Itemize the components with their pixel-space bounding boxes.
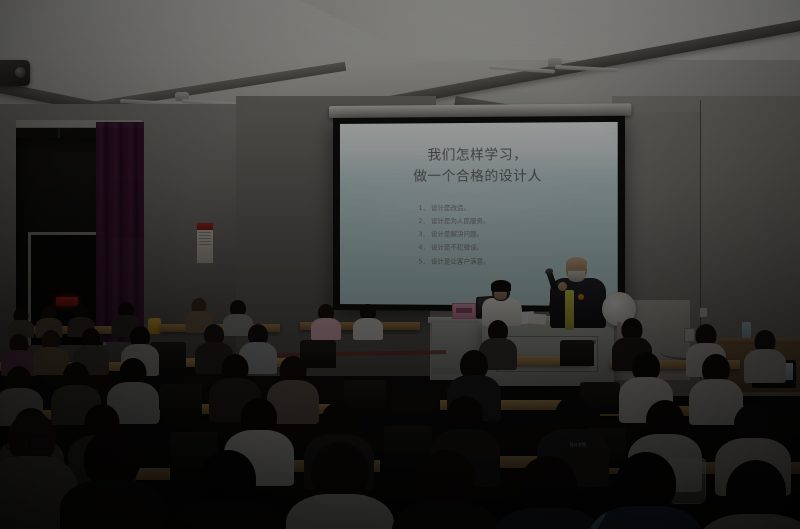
person-body — [744, 349, 786, 383]
audience-member-foreground — [180, 450, 276, 529]
shirt-print-text: 设计学院 — [558, 442, 598, 447]
person-body — [700, 514, 800, 529]
person-head — [519, 456, 577, 516]
audience-member-foreground — [396, 450, 496, 529]
person-body — [353, 318, 383, 340]
projector-lens — [15, 67, 26, 78]
slide-bullet-item: 5． 设计是让客户满意。 — [418, 255, 489, 269]
person-head — [616, 452, 676, 514]
notice-line — [199, 241, 211, 242]
person-body — [494, 508, 602, 529]
eyeglasses-icon — [6, 436, 30, 449]
seat-back — [560, 340, 594, 366]
person-body — [311, 318, 341, 340]
speaker-beard — [568, 271, 585, 282]
audience-member-foreground — [498, 456, 598, 529]
audience-member — [746, 330, 784, 378]
notice-line — [199, 244, 211, 245]
slide-bullet-list: 1． 设计是改造。 2． 设计是为人民服务。 3． 设计是解决问题。 4． 设计… — [418, 202, 489, 268]
audience-member-foreground — [594, 452, 698, 529]
person-body — [392, 502, 500, 529]
person-head — [726, 460, 786, 522]
slide-bullet-item: 2． 设计是为人民服务。 — [418, 215, 489, 228]
microphone-head — [544, 267, 553, 275]
audience-member — [312, 304, 340, 334]
person-body — [590, 506, 702, 529]
slide-bullet-item: 4． 设计是不犯错误。 — [418, 242, 489, 255]
slide-bullet-item: 3． 设计是解决问题。 — [418, 228, 489, 241]
slide-title-line-1: 我们怎样学习， — [340, 144, 618, 166]
notice-line — [199, 238, 211, 239]
audience-member-foreground — [704, 460, 800, 529]
notice-header — [197, 223, 213, 230]
lecture-hall-photo: 我们怎样学习， 做一个合格的设计人 1． 设计是改造。 2． 设计是为人民服务。… — [0, 0, 800, 529]
slide-bullet-item: 1． 设计是改造。 — [418, 202, 489, 215]
notice-line — [199, 235, 211, 236]
person-body — [286, 494, 394, 529]
person-head — [311, 442, 369, 502]
person-body — [60, 480, 164, 529]
projector-icon — [0, 60, 30, 86]
audience-member-foreground — [64, 430, 160, 529]
notice-line — [199, 232, 211, 233]
audience-member — [8, 308, 34, 334]
wall-notice-board — [196, 222, 214, 264]
speaker-bald-head — [566, 257, 587, 269]
audience-area: 设计学院 — [0, 300, 800, 529]
person-head — [417, 450, 475, 510]
audience-member — [354, 304, 382, 334]
slide-title-line-2: 做一个合格的设计人 — [340, 166, 618, 188]
person-body — [176, 500, 280, 529]
audience-member-foreground — [290, 442, 390, 529]
assistant-hair — [491, 280, 511, 291]
slide-title: 我们怎样学习， 做一个合格的设计人 — [340, 144, 618, 187]
assistant-glasses — [493, 291, 508, 296]
seat-back — [160, 384, 202, 418]
eyeglasses-icon — [30, 436, 52, 449]
